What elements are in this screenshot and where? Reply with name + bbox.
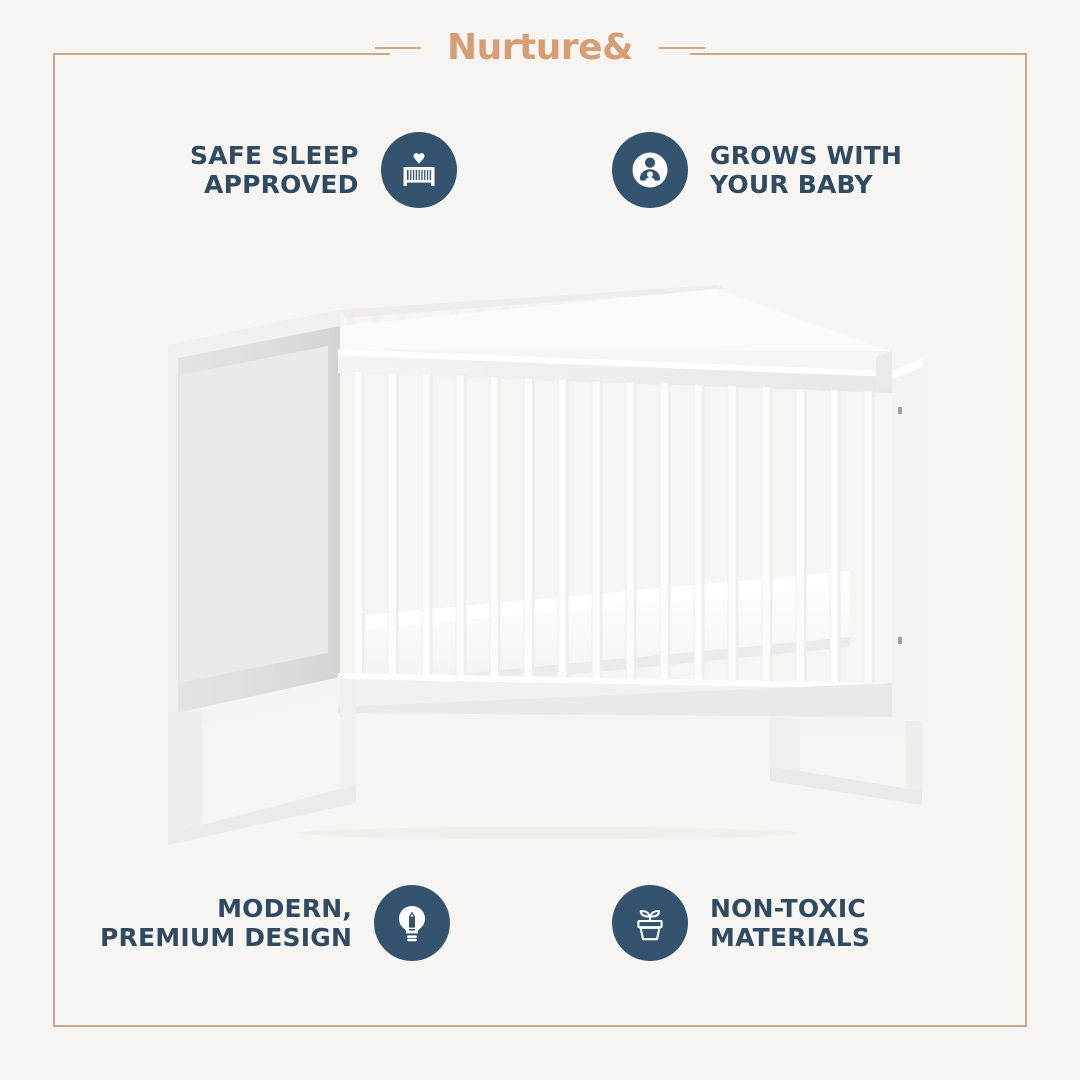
feature-non-toxic-materials-line1: NON-TOXIC (710, 894, 870, 923)
feature-non-toxic-materials: NON-TOXIC MATERIALS (612, 885, 870, 961)
feature-grows-with-baby-line1: GROWS WITH (710, 141, 902, 170)
feature-non-toxic-materials-line2: MATERIALS (710, 923, 870, 952)
brand-name: Nurture& (447, 30, 633, 66)
feature-non-toxic-materials-label: NON-TOXIC MATERIALS (710, 894, 870, 952)
feature-safe-sleep: SAFE SLEEP APPROVED (190, 132, 457, 208)
feature-safe-sleep-line2: APPROVED (190, 170, 359, 199)
lightbulb-pencil-icon (374, 885, 450, 961)
product-infographic: Nurture& SAFE SLEEP APPROVED (0, 0, 1080, 1080)
feature-safe-sleep-label: SAFE SLEEP APPROVED (190, 141, 359, 199)
feature-modern-premium-design-line1: MODERN, (100, 894, 352, 923)
feature-modern-premium-design-label: MODERN, PREMIUM DESIGN (100, 894, 352, 952)
brand-rule-left (375, 47, 421, 49)
feature-grows-with-baby-label: GROWS WITH YOUR BABY (710, 141, 902, 199)
potted-plant-icon (612, 885, 688, 961)
baby-person-icon (612, 132, 688, 208)
brand-lockup: Nurture& (375, 30, 705, 66)
crib-heart-icon (381, 132, 457, 208)
feature-grows-with-baby-line2: YOUR BABY (710, 170, 902, 199)
product-image-crib (150, 285, 950, 845)
brand-rule-right (659, 47, 705, 49)
feature-grows-with-baby: GROWS WITH YOUR BABY (612, 132, 902, 208)
feature-modern-premium-design-line2: PREMIUM DESIGN (100, 923, 352, 952)
feature-safe-sleep-line1: SAFE SLEEP (190, 141, 359, 170)
feature-modern-premium-design: MODERN, PREMIUM DESIGN (100, 885, 450, 961)
